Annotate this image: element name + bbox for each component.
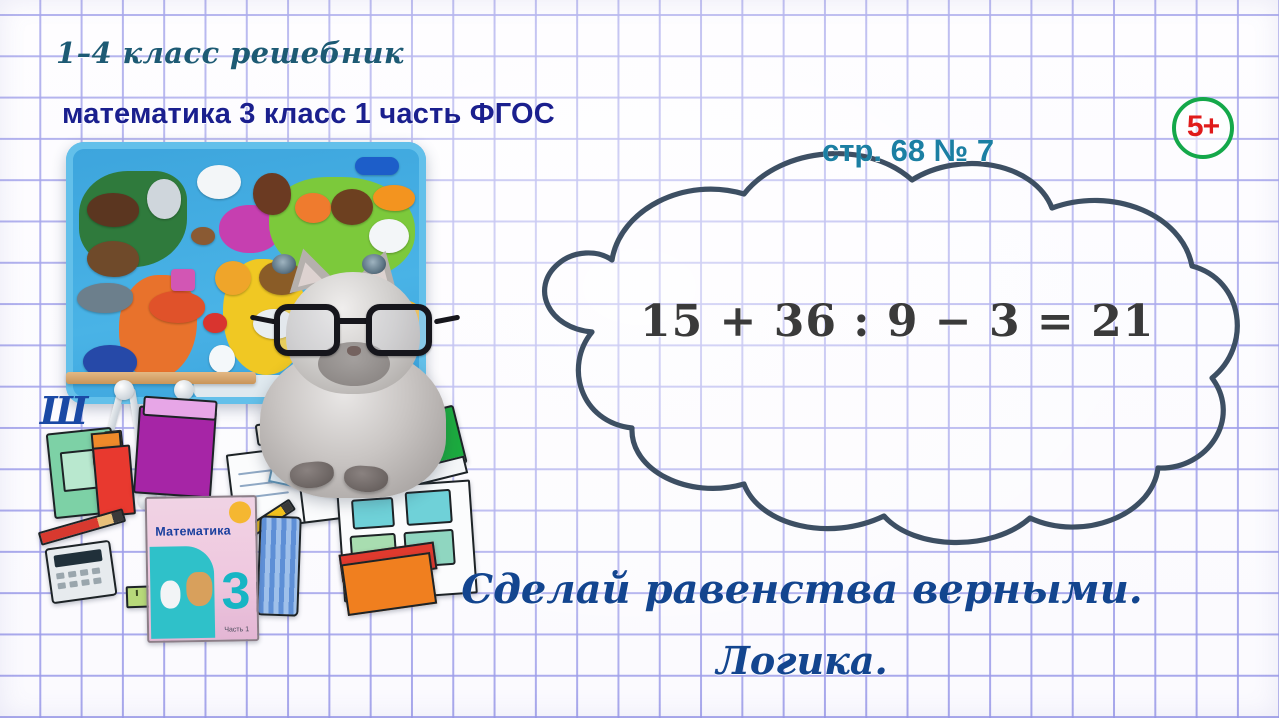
textbook-bear-icon — [186, 572, 213, 606]
puzzle-piece-grey-whale-icon — [77, 283, 133, 313]
ruler-tick — [136, 590, 138, 596]
book-orange-large — [341, 552, 437, 616]
color-swatch — [351, 497, 395, 530]
textbook-part-label: Часть 1 — [224, 626, 249, 633]
school-collage: Ш — [40, 138, 460, 608]
series-title: 1–4 класс решебник — [56, 36, 404, 70]
math-equation: 15 + 36 : 9 − 3 = 21 — [640, 296, 1154, 347]
puzzle-piece-crocodile-icon — [149, 291, 205, 323]
calculator-key — [57, 582, 66, 589]
puzzle-piece-gift-icon — [171, 269, 195, 291]
textbook-title: Математика — [155, 523, 251, 539]
glasses-temple-right — [434, 315, 460, 325]
puzzle-piece-bison-icon — [87, 193, 139, 227]
easel-tray — [66, 372, 256, 384]
task-instruction-line-1: Сделай равенства верными. — [452, 566, 1152, 613]
calculator-key — [69, 581, 78, 588]
glasses-lens-left — [274, 304, 340, 356]
cat-eye-left — [272, 254, 296, 274]
eyeglasses-icon — [274, 304, 436, 358]
glasses-bridge — [336, 318, 370, 324]
pencil-case — [256, 515, 301, 616]
puzzle-piece-penguin-icon — [209, 345, 235, 373]
task-instruction-line-2: Логика. — [452, 638, 1152, 683]
age-rating-label: 5+ — [1187, 112, 1219, 142]
textbook-bunny-icon — [160, 580, 180, 608]
book-top-edge — [142, 396, 217, 421]
math-textbook-cover: Математика 3 Часть 1 — [145, 495, 260, 643]
thumbnail-canvas: Ш — [0, 0, 1279, 718]
calculator-key — [68, 571, 77, 578]
cat-with-glasses — [252, 238, 452, 488]
puzzle-piece-tiger-icon — [373, 185, 415, 211]
age-rating-badge: 5+ — [1172, 97, 1234, 159]
glasses-lens-right — [366, 304, 432, 356]
book-purple — [133, 405, 217, 498]
glasses-temple-left — [250, 315, 276, 325]
puzzle-piece-lion-icon — [215, 261, 251, 295]
cat-eye-right — [362, 254, 386, 274]
puzzle-piece-fox-icon — [295, 193, 331, 223]
calculator-key — [81, 579, 90, 586]
puzzle-piece-crab-icon — [203, 313, 227, 333]
puzzle-piece-polar-bear-icon — [197, 165, 241, 199]
puzzle-piece-brown-bear-icon — [331, 189, 373, 225]
textbook-grade-number: 3 — [221, 565, 251, 617]
puzzle-piece-submarine-icon — [355, 157, 399, 175]
handwriting-letter-glyph: Ш — [40, 388, 80, 432]
calculator-screen — [53, 549, 102, 568]
page-title: математика 3 класс 1 часть ФГОС — [62, 98, 555, 131]
calculator-key — [92, 567, 101, 574]
puzzle-piece-moose-icon — [253, 173, 291, 215]
puzzle-piece-eagle-icon — [87, 241, 139, 277]
page-reference: стр. 68 № 7 — [822, 133, 994, 169]
calculator-key — [93, 577, 102, 584]
textbook-sun-icon — [229, 501, 251, 523]
color-swatch — [405, 489, 453, 526]
book-red — [92, 444, 136, 517]
puzzle-piece-raccoon-icon — [147, 179, 181, 219]
calculator-key — [80, 569, 89, 576]
calculator-key — [56, 572, 65, 579]
calculator — [44, 540, 117, 605]
puzzle-piece-shell-icon — [191, 227, 215, 245]
